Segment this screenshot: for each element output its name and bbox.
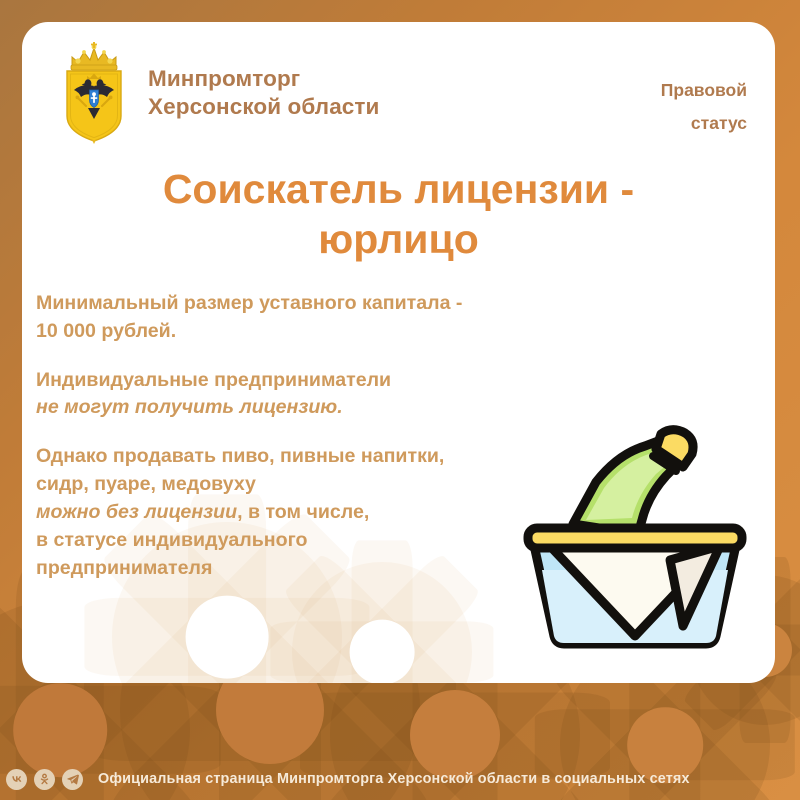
- body-line: 10 000 рублей.: [36, 318, 735, 346]
- footer-bar: Официальная страница Минпромторга Херсон…: [0, 764, 800, 794]
- brand-lockup: Минпромторг Херсонской области: [58, 40, 379, 146]
- content-card: Минпромторг Херсонской области Правовой …: [22, 22, 775, 683]
- paragraph-capital: Минимальный размер уставного капитала - …: [36, 290, 735, 346]
- body-line: Минимальный размер уставного капитала -: [36, 290, 735, 318]
- brand-title: Минпромторг Херсонской области: [148, 65, 379, 121]
- body-suffix: , в том числе,: [237, 501, 369, 523]
- telegram-icon[interactable]: [62, 769, 83, 790]
- poster-canvas: Минпромторг Херсонской области Правовой …: [0, 0, 800, 800]
- body-line: Индивидуальные предприниматели: [36, 367, 735, 395]
- footer-text: Официальная страница Минпромторга Херсон…: [98, 771, 690, 787]
- body-emphasis: можно без лицензии: [36, 501, 237, 523]
- page-title: Соискатель лицензии - юрлицо: [72, 164, 725, 264]
- champagne-bottle-in-ice-bucket-icon: [520, 410, 750, 655]
- vk-icon[interactable]: [6, 769, 27, 790]
- legal-status-label: Правовой статус: [661, 74, 747, 141]
- card-header: Минпромторг Херсонской области Правовой …: [22, 22, 775, 142]
- coat-of-arms-icon: [58, 40, 130, 146]
- odnoklassniki-icon[interactable]: [34, 769, 55, 790]
